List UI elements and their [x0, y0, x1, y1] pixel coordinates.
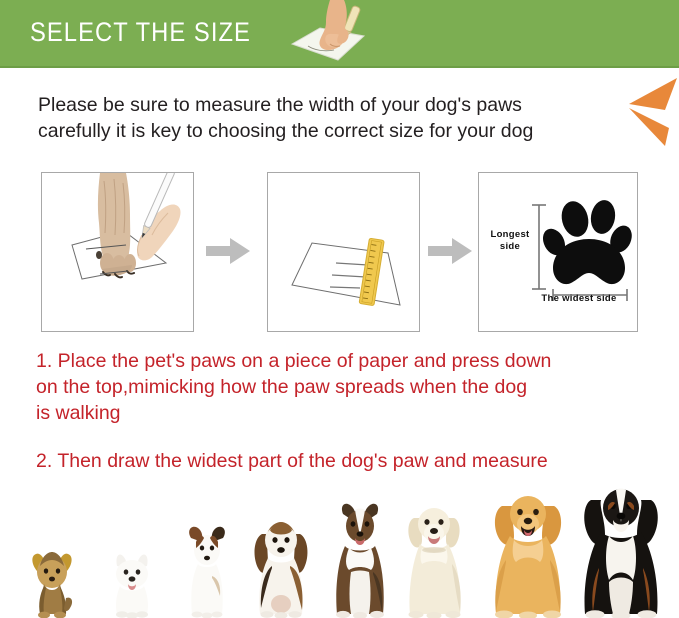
size-guide-infographic: SELECT THE SIZE Please be sure to mea	[0, 0, 679, 618]
dog-jack-russell-terrier	[178, 520, 236, 618]
dog-west-highland-white-terrier	[103, 540, 161, 618]
instruction-steps: 1. Place the pet's paws on a piece of pa…	[36, 348, 666, 474]
label-longest-side: Longest side	[487, 229, 533, 252]
step-2: 2. Then draw the widest part of the dog'…	[36, 448, 666, 474]
step-1-line-2: on the top,mimicking how the paw spreads…	[36, 374, 666, 400]
dog-paw-tracing-illustration	[42, 173, 193, 331]
dog-beagle	[246, 512, 316, 618]
label-widest-side: The widest side	[523, 293, 635, 304]
gray-right-arrow-2	[428, 238, 472, 264]
dog-border-collie	[325, 500, 395, 618]
panel-measure-ruler	[267, 172, 420, 332]
page-title: SELECT THE SIZE	[30, 17, 251, 48]
intro-text: Please be sure to measure the width of y…	[38, 92, 658, 144]
paper-with-ruler-illustration	[268, 173, 419, 331]
panel-paw-dimensions: Longest side The widest side	[478, 172, 638, 332]
dog-yellow-labrador-retriever	[396, 500, 472, 618]
hand-tracing-paper-icon	[286, 0, 382, 66]
intro-line-2: carefully it is key to choosing the corr…	[38, 118, 658, 144]
step-1-line-1: 1. Place the pet's paws on a piece of pa…	[36, 348, 666, 374]
intro-line-1: Please be sure to measure the width of y…	[38, 92, 658, 118]
step-1-line-3: is walking	[36, 400, 666, 426]
dog-yorkshire-terrier	[22, 532, 82, 618]
step-2-line-1: 2. Then draw the widest part of the dog'…	[36, 448, 666, 474]
panel-trace-paw	[41, 172, 194, 332]
dog-golden-retriever	[484, 490, 572, 618]
gray-right-arrow-1	[206, 238, 250, 264]
dog-breed-lineup	[0, 482, 679, 618]
illustration-panels: Longest side The widest side	[41, 172, 638, 332]
header-banner: SELECT THE SIZE	[0, 0, 679, 68]
step-1: 1. Place the pet's paws on a piece of pa…	[36, 348, 666, 426]
dog-bernese-mountain-dog	[575, 482, 667, 618]
paw-print-measure-icon	[479, 173, 637, 331]
